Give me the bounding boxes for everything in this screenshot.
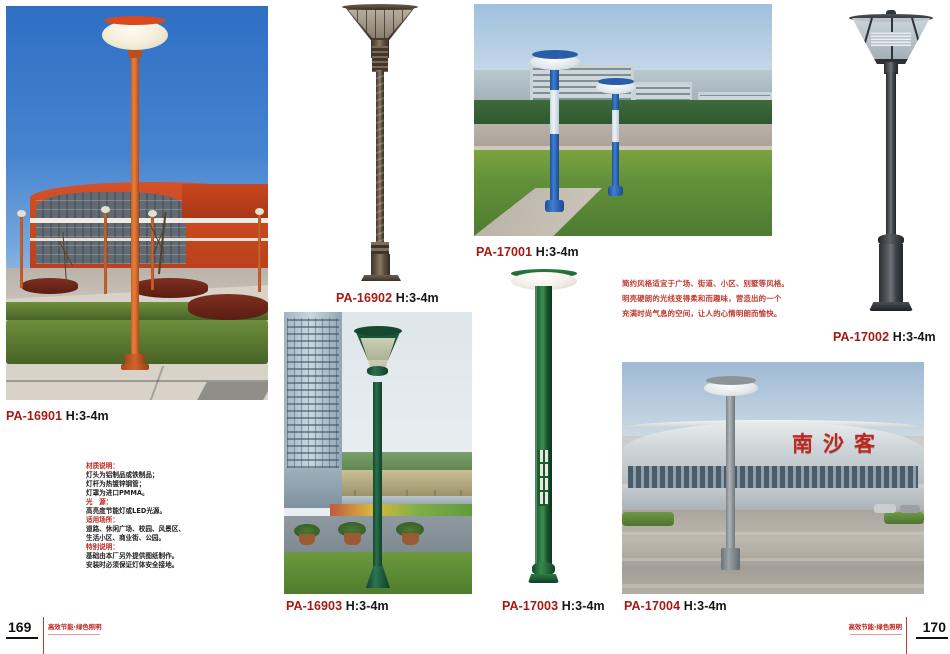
product-photo-pa-16903: [284, 312, 472, 594]
product-photo-pa-16901: [6, 6, 268, 400]
footer-slogan-rule-left: [48, 634, 100, 635]
building-band-lower: [30, 238, 268, 241]
red-shrub-a: [22, 278, 78, 294]
lamp-cone-ribs: [348, 10, 412, 38]
product-code: PA-17002: [833, 330, 889, 344]
caption-pa-16901: PA-16901 H:3-4m: [6, 409, 109, 423]
red-shrub-c: [188, 294, 268, 320]
caption-pa-17001: PA-17001 H:3-4m: [476, 245, 579, 259]
product-height: H:3-4m: [684, 599, 727, 613]
product-height: H:3-4m: [396, 291, 439, 305]
spec-material-heading: 材质说明：: [86, 462, 226, 471]
product-code: PA-16901: [6, 409, 62, 423]
lamp-base: [721, 548, 740, 570]
spec-material-line-2: 灯杆为热镀锌钢管；: [86, 480, 226, 489]
caption-pa-17002: PA-17002 H:3-4m: [833, 330, 936, 344]
lamp-base-swell: [532, 562, 555, 576]
mini-lamp-head-4: [255, 208, 264, 215]
footer-divider-right: [906, 617, 907, 654]
product-height: H:3-4m: [562, 599, 605, 613]
spec-note-line-1: 基础由本厂另外提供图纸制作。: [86, 552, 226, 561]
lamp-head-collar: [367, 366, 388, 376]
mini-lamp-head-2: [101, 206, 110, 213]
lamp-foot-plate: [361, 275, 401, 281]
product-code: PA-17004: [624, 599, 680, 613]
mini-lamp-pole-1: [20, 216, 23, 288]
parked-car-2: [900, 505, 920, 513]
product-photo-pa-17004: 南沙客: [622, 362, 924, 594]
lamp-head-cap: [354, 326, 402, 336]
mini-lamp-pole-2: [104, 212, 107, 294]
lamp-base-tall: [545, 200, 564, 212]
spec-light-line-1: 高亮度节能灯或LED光源。: [86, 507, 226, 516]
lamp-pole: [726, 394, 735, 560]
building-band-upper: [30, 218, 268, 223]
lamp-clear-section-short: [612, 110, 619, 144]
lamp-lower-pole-tall: [550, 134, 559, 206]
footer-left: 169 高效节能·绿色照明: [0, 617, 130, 654]
lamp-pole-edge-highlight: [535, 286, 552, 576]
product-height: H:3-4m: [66, 409, 109, 423]
marketing-blurb: 简约风格适宜于广场、街道、小区、别墅等风格。 明亮硬朗的光线变得柔和而趣味，营造…: [622, 276, 818, 321]
caption-pa-17004: PA-17004 H:3-4m: [624, 599, 727, 613]
lamp-pedestal: [879, 244, 903, 306]
lamp-shaft: [886, 72, 896, 240]
blurb-line-3: 充满时尚气息的空间，让人的心情明朗而愉快。: [622, 306, 818, 321]
lamp-upper-pole-tall: [550, 70, 559, 92]
paving-stripe-1: [622, 532, 924, 535]
footer-slogan-left: 高效节能·绿色照明: [48, 622, 102, 631]
terminal-signage: 南沙客: [792, 428, 885, 458]
flower-pot-2: [344, 533, 361, 545]
specifications-block: 材质说明： 灯头为铝制品或铁制品； 灯杆为热镀锌钢管； 灯罩为进口PMMA。 光…: [86, 462, 226, 570]
lamp-disc-cap-tall: [532, 50, 578, 59]
blurb-line-1: 简约风格适宜于广场、街道、小区、别墅等风格。: [622, 276, 818, 291]
spec-usage-heading: 适用场所：: [86, 516, 226, 525]
shrub-right: [884, 512, 924, 524]
caption-pa-16902: PA-16902 H:3-4m: [336, 291, 439, 305]
lamp-shade-rim-main: [104, 16, 166, 25]
footer-divider-left: [43, 617, 44, 654]
caption-pa-17003: PA-17003 H:3-4m: [502, 599, 605, 613]
lamp-pedestal: [371, 254, 390, 278]
blurb-line-2: 明亮硬朗的光线变得柔和而趣味，营造出的一个: [622, 291, 818, 306]
lamp-foot-plate: [869, 302, 913, 311]
lamp-cone-bottom-band: [852, 18, 930, 64]
spec-usage-line-1: 道路、休闲广场、校园、风景区、: [86, 525, 226, 534]
paving-joint-c: [197, 382, 268, 400]
spec-light-heading: 光 源：: [86, 498, 226, 507]
lamp-shaft-twist-texture: [376, 70, 384, 248]
lamp-disc-cap-short: [598, 78, 634, 85]
shrub-left: [622, 512, 674, 526]
lamp-lower-pole-short: [612, 142, 619, 192]
caption-pa-16903: PA-16903 H:3-4m: [286, 599, 389, 613]
paving-stripe-2: [622, 558, 924, 561]
flower-pot-3: [402, 533, 419, 545]
lamp-clear-section-tall: [550, 90, 559, 136]
flower-pot-1: [299, 534, 315, 545]
footer-slogan-right: 高效节能·绿色照明: [848, 622, 902, 631]
lamp-decorative-rings: [372, 46, 388, 72]
parked-car-1: [874, 504, 896, 513]
catalog-page: PA-16901 H:3-4m PA-16902 H:3-4m: [0, 0, 950, 654]
product-code: PA-16903: [286, 599, 342, 613]
footer-right: 高效节能·绿色照明 170: [820, 617, 950, 654]
spec-note-heading: 特别说明：: [86, 543, 226, 552]
spec-material-line-1: 灯头为铝制品或铁制品；: [86, 471, 226, 480]
page-number-left: 169: [8, 619, 31, 635]
mini-lamp-pole-4: [258, 214, 261, 292]
lamp-base-short: [608, 186, 623, 196]
paving-stripe-3: [622, 584, 924, 588]
product-height: H:3-4m: [893, 330, 936, 344]
product-height: H:3-4m: [536, 245, 579, 259]
product-photo-pa-17001: [474, 4, 772, 236]
lamp-window-mullions: [538, 450, 549, 506]
mini-lamp-head-3: [148, 210, 157, 217]
lamp-foot-main: [121, 364, 149, 370]
red-shrub-b: [132, 278, 208, 298]
tower-window-grid: [287, 318, 339, 468]
spec-note-line-2: 安装时必须保证灯体安全接地。: [86, 561, 226, 570]
product-code: PA-16902: [336, 291, 392, 305]
product-code: PA-17003: [502, 599, 558, 613]
lamp-pole: [373, 382, 382, 566]
spec-usage-line-2: 生活小区、商业街、公园。: [86, 534, 226, 543]
footer-slogan-rule-right: [850, 634, 902, 635]
page-number-underline-right: [916, 637, 948, 639]
page-number-right: 170: [923, 619, 946, 635]
page-number-underline-left: [6, 637, 38, 639]
product-image-pa-17003: [497, 262, 589, 592]
mini-lamp-head-1: [17, 210, 26, 217]
spec-material-line-3: 灯罩为进口PMMA。: [86, 489, 226, 498]
lamp-foot-plate: [528, 574, 559, 583]
product-height: H:3-4m: [346, 599, 389, 613]
product-code: PA-17001: [476, 245, 532, 259]
lamp-disc-cap: [706, 376, 756, 385]
lamp-pole-main: [131, 54, 139, 366]
product-image-pa-17002: [838, 2, 944, 320]
product-image-pa-16902: [331, 2, 429, 284]
lamp-cone-rim: [342, 4, 418, 10]
tree-line: [474, 100, 772, 126]
